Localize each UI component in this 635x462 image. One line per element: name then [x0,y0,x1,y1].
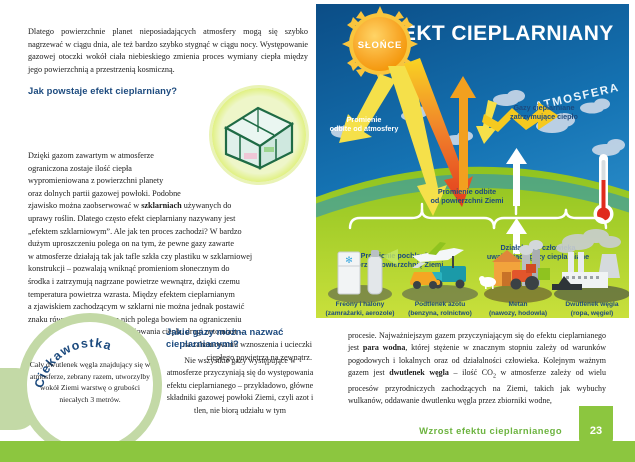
svg-text:(nawozy, hodowla): (nawozy, hodowla) [489,310,547,317]
body-line-7: dużym uproszczeniu polega on na tym, że … [28,239,234,248]
fact-badge-text: Cały dwutlenek węgla znajdujący się w at… [28,359,152,405]
body-line-10: środka i zatrzymują nagrzane powietrze w… [28,277,240,286]
right-text-column: procesie. Najważniejszym gazem przyczyni… [348,330,606,407]
svg-text:Podtlenek azotu: Podtlenek azotu [415,301,466,308]
intro-paragraph: Dlatego powierzchnie planet nieposiadają… [28,26,308,76]
page-number: 23 [579,425,613,437]
svg-text:od powierzchni Ziemi: od powierzchni Ziemi [430,196,503,205]
body-line-6: „efektem szklarniowym”. Ale jak ten proc… [28,227,242,236]
body-line-3: oraz dolnych partii gazowej powłoki. Pod… [28,189,181,198]
greenhouse-effect-infographic: EFEKT CIEPLARNIANY ATMOSFERA [316,4,629,318]
rc-t3: – ilość CO [449,368,493,377]
fact-badge: Ciekawostka Cały dwutlenek węgla znajduj… [18,313,162,457]
svg-text:zatrzymujące ciepło: zatrzymujące ciepło [510,112,579,121]
svg-text:✻: ✻ [345,255,353,265]
body-line-5: uprawy roślin. Dlatego często efekt ciep… [28,214,235,223]
magazine-page: Dlatego powierzchnie planet nieposiadają… [0,0,635,462]
svg-text:(ropa, węgiel): (ropa, węgiel) [571,310,614,317]
rc-b2: dwutlenek węgla [389,368,449,377]
sun-label: SŁOŃCE [358,40,402,51]
right-column-paragraph: procesie. Najważniejszym gazem przyczyni… [348,330,606,407]
body-line-8: w atmosferze działają tak jak tafle szkł… [28,252,252,261]
svg-text:Gazy cieplarniane: Gazy cieplarniane [513,103,574,112]
body-line-4: zjawisko można zaobserwować w szklarniac… [28,201,231,210]
svg-text:(benzyna, rolnictwo): (benzyna, rolnictwo) [408,310,472,317]
middle-text-column: Jakie gazy można nazwać cieplarnianymi? … [166,326,314,417]
footer-chapter-title: Wzrost efektu cieplarnianego [419,425,562,436]
svg-text:odbite od atmosfery: odbite od atmosfery [330,124,399,133]
body-line-9: konstrukcji – pozwalają wniknąć promieni… [28,264,229,273]
svg-text:Dwutlenek węgla: Dwutlenek węgla [565,301,618,308]
heading-which-gases: Jakie gazy można nazwać cieplarnianymi? [166,326,314,350]
footer-green-bar [0,441,635,462]
middle-column-paragraph: Nie wszystkie gazy występujące w atmosfe… [166,355,314,417]
body-line-2: wypromieniowana z powierzchni planety [28,176,163,185]
body-line-12: a zjawiskiem zachodzącym w szklarni nie … [28,302,244,311]
body-line-1: ograniczona zostaje ilość ciepła [28,164,132,173]
rc-b1: para wodna [363,343,405,352]
svg-text:Promienie: Promienie [347,115,382,124]
body-line-11: temperatura powietrza wzrasta. Między ef… [28,290,235,299]
svg-text:(zamrażarki, aerozole): (zamrażarki, aerozole) [326,310,395,317]
svg-text:Promienie odbite: Promienie odbite [438,187,496,196]
svg-text:Freony i halony: Freony i halony [336,301,385,308]
body-line-0: Dzięki gazom zawartym w atmosferze [28,151,154,160]
infographic-svg: EFEKT CIEPLARNIANY ATMOSFERA [316,4,629,318]
svg-text:Metan: Metan [508,301,527,308]
